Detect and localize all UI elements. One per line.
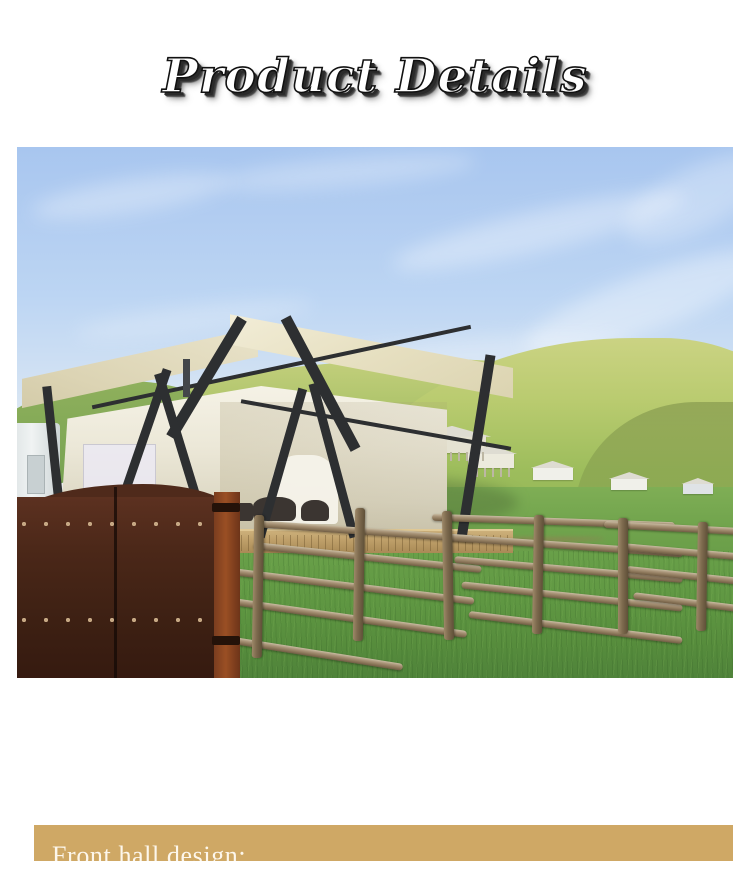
fence-post [252,515,264,658]
caption-heading: Front hall design: [52,839,732,861]
hero-image-block: Front hall design: The lobby is the most… [17,147,733,861]
page-title: Product Details [162,49,587,104]
caption-panel: Front hall design: The lobby is the most… [34,825,733,861]
gate-hinge [212,503,240,512]
tent-chimney-pipe [183,359,191,396]
page-header: Product Details [0,0,750,147]
gate-panel-divider [114,487,117,678]
gate-hinge [212,636,240,645]
distant-tent [683,484,713,494]
fence-rail [468,611,682,644]
fence-post [352,508,364,641]
fence-post [442,511,454,640]
distant-tent [611,479,647,490]
fence-post [696,522,708,631]
hero-photo [17,147,733,678]
fence-post [531,515,543,634]
fence-rail [211,596,467,639]
distant-tent [533,468,573,480]
gate-frame-post [214,492,240,678]
fence-post [618,518,628,634]
gate-stud-row [21,617,221,623]
gate-stud-row [21,521,221,527]
